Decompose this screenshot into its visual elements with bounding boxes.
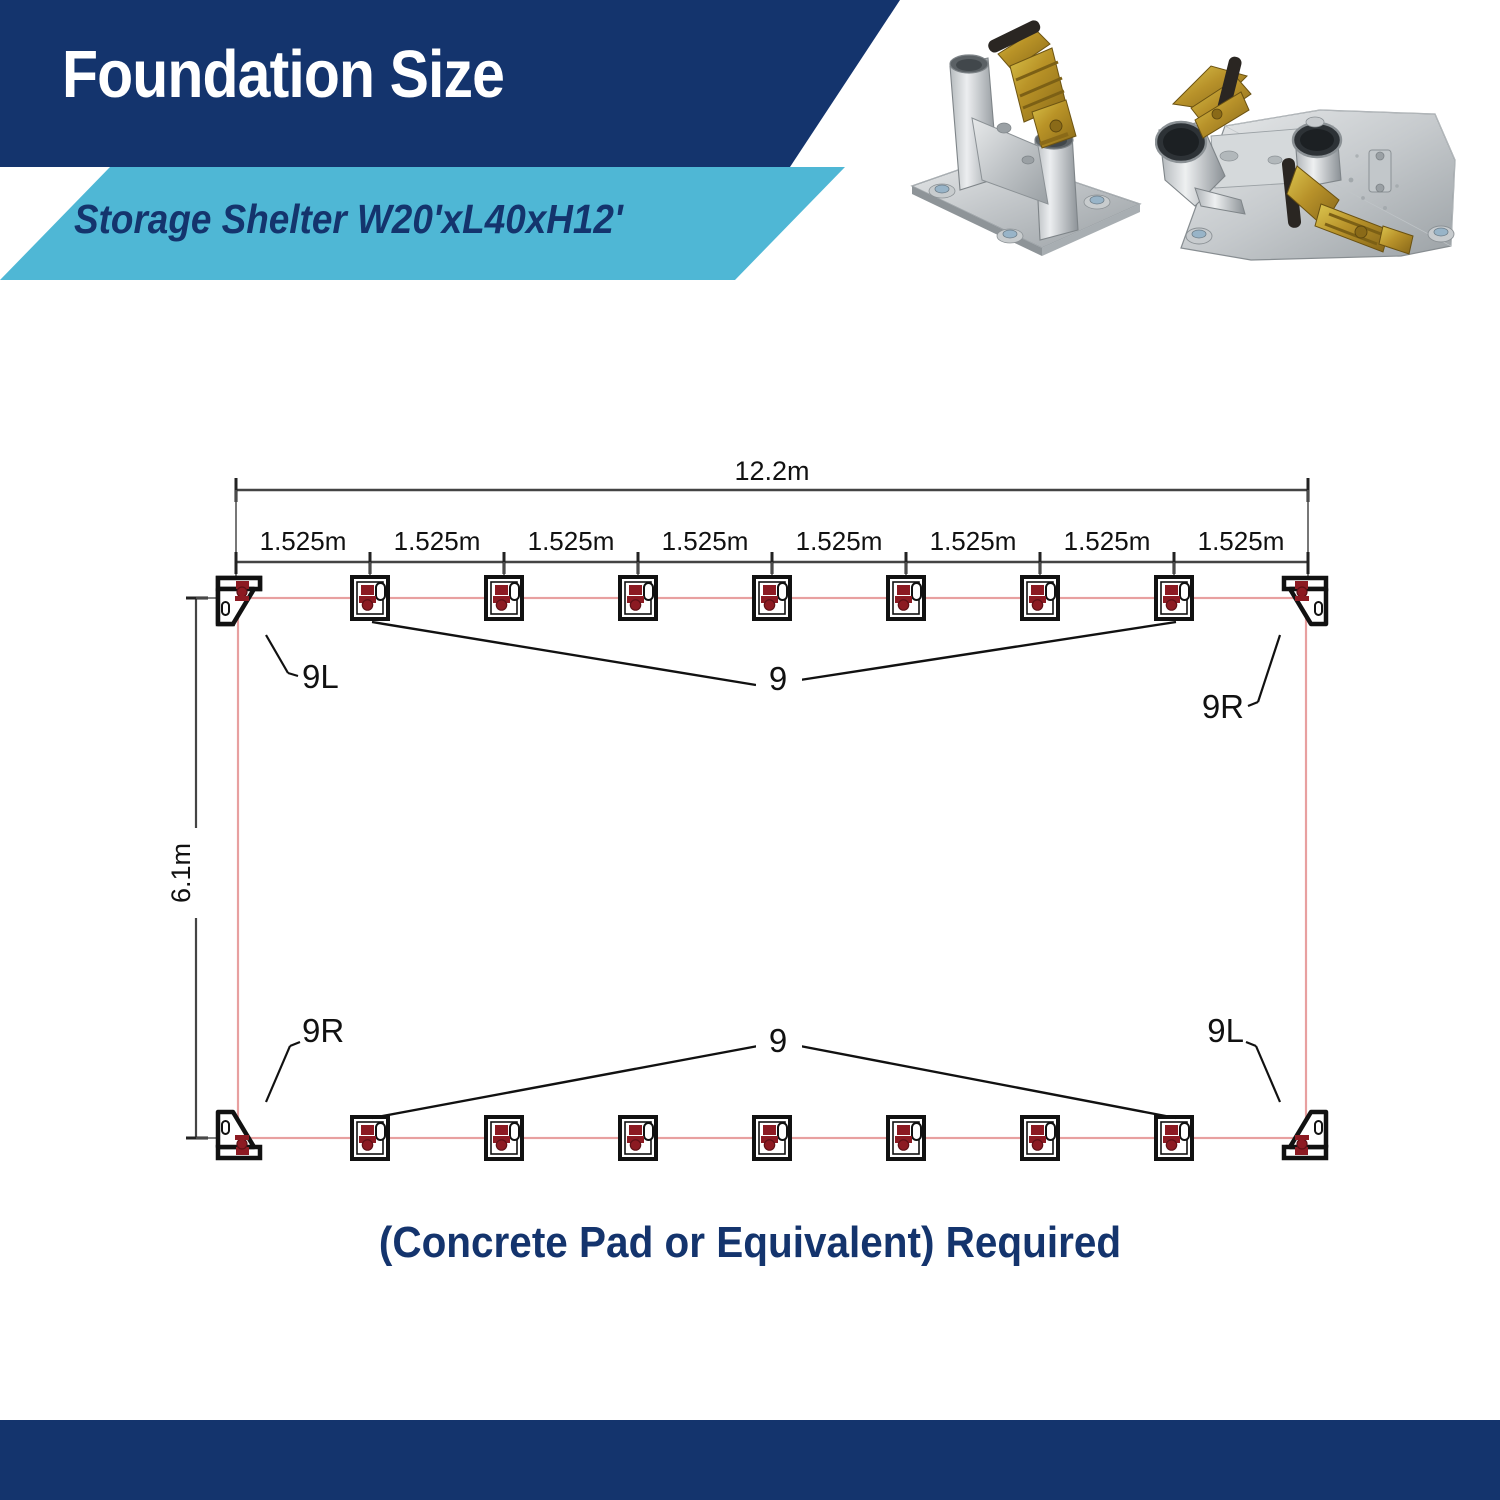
base-plate bbox=[620, 1117, 656, 1159]
overall-depth-dimension: 6.1m bbox=[166, 598, 238, 1138]
callout-bottom-right-label: 9L bbox=[1207, 1012, 1244, 1049]
base-plate bbox=[352, 1117, 388, 1159]
header: Foundation Size Storage Shelter W20'xL40… bbox=[0, 0, 1500, 300]
top-plate-leader: 9 bbox=[372, 622, 1176, 697]
base-plate bbox=[888, 1117, 924, 1159]
overall-width-label: 12.2m bbox=[734, 456, 809, 486]
callout-top-left: 9L bbox=[266, 635, 339, 695]
bottom-anchor-row bbox=[218, 1112, 1326, 1159]
base-plate bbox=[486, 577, 522, 619]
base-plate-ratchet-top-view-photo bbox=[1155, 48, 1490, 298]
bay-label-1: 1.525m bbox=[260, 526, 347, 556]
callout-bottom-left-label: 9R bbox=[302, 1012, 344, 1049]
callout-bottom-right: 9L bbox=[1207, 1012, 1280, 1102]
bottom-plate-label: 9 bbox=[769, 1022, 787, 1059]
bay-label-4: 1.525m bbox=[662, 526, 749, 556]
bay-label-3: 1.525m bbox=[528, 526, 615, 556]
bottom-plate-leader: 9 bbox=[372, 1022, 1176, 1118]
callout-bottom-left: 9R bbox=[266, 1012, 344, 1102]
top-anchor-row bbox=[218, 577, 1326, 624]
base-plate bbox=[1156, 1117, 1192, 1159]
corner-bracket-top-right bbox=[1284, 578, 1326, 624]
top-plate-label: 9 bbox=[769, 660, 787, 697]
base-plate bbox=[754, 577, 790, 619]
callout-top-left-label: 9L bbox=[302, 658, 339, 695]
base-plate-ratchet-angled-view-photo bbox=[890, 8, 1170, 298]
base-plate bbox=[486, 1117, 522, 1159]
base-plate bbox=[1022, 577, 1058, 619]
callout-top-right: 9R bbox=[1202, 635, 1280, 725]
overall-depth-label: 6.1m bbox=[166, 843, 196, 903]
base-plate bbox=[888, 577, 924, 619]
page-subtitle: Storage Shelter W20'xL40xH12' bbox=[74, 196, 623, 243]
base-plate bbox=[620, 577, 656, 619]
foundation-requirement-caption: (Concrete Pad or Equivalent) Required bbox=[60, 1218, 1440, 1268]
corner-bracket-top-left bbox=[218, 578, 260, 624]
callout-top-right-label: 9R bbox=[1202, 688, 1244, 725]
base-plate bbox=[1156, 577, 1192, 619]
base-plate bbox=[754, 1117, 790, 1159]
footer-band bbox=[0, 1420, 1500, 1500]
corner-bracket-bottom-right bbox=[1284, 1112, 1326, 1158]
bay-label-2: 1.525m bbox=[394, 526, 481, 556]
base-plate bbox=[1022, 1117, 1058, 1159]
page-title: Foundation Size bbox=[62, 36, 504, 113]
base-plate bbox=[352, 577, 388, 619]
bay-label-7: 1.525m bbox=[1064, 526, 1151, 556]
bay-label-6: 1.525m bbox=[930, 526, 1017, 556]
foundation-plan-diagram: 12.2m 1.525m 1.525m 1.525m 1.525m 1.525m bbox=[0, 430, 1500, 1220]
bay-label-8: 1.525m bbox=[1198, 526, 1285, 556]
bay-label-5: 1.525m bbox=[796, 526, 883, 556]
corner-bracket-bottom-left bbox=[218, 1112, 260, 1158]
